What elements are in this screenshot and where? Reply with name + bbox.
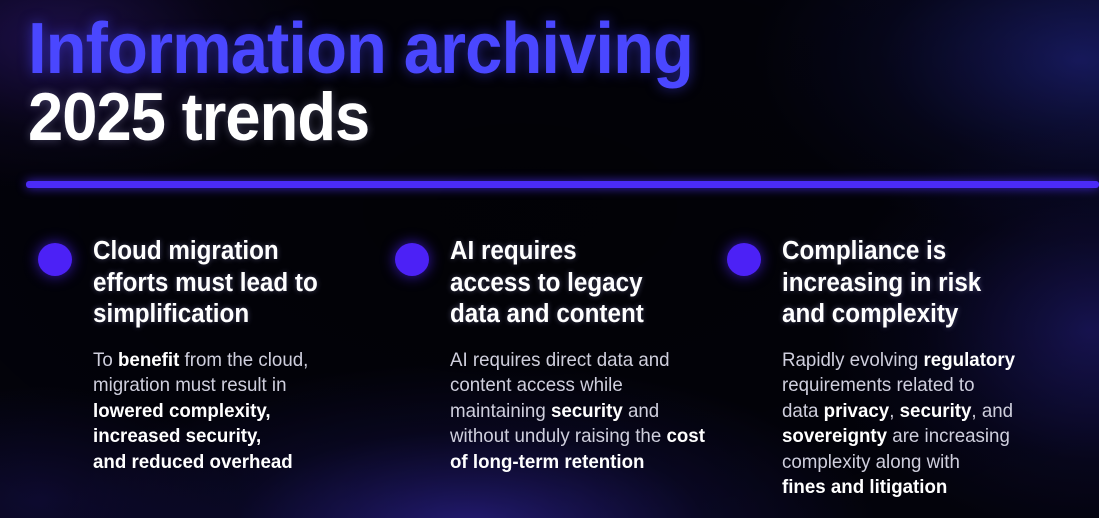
trend-column-body: Cloud migrationefforts must lead tosimpl… [72,236,355,475]
trend-heading-line: simplification [93,299,342,331]
emphasis-text: and reduced overhead [93,451,293,473]
trend-description-line: lowered complexity, [93,399,345,425]
trend-columns: Cloud migrationefforts must lead tosimpl… [0,236,1099,501]
trend-description-line: complexity along with [782,450,1070,476]
trend-heading: Cloud migrationefforts must lead tosimpl… [93,236,342,331]
trend-column: Compliance isincreasing in riskand compl… [714,236,1099,501]
plain-text: and [623,400,659,422]
trend-description: To benefit from the cloud,migration must… [93,348,345,476]
slide-header: Information archiving 2025 trends [28,12,1078,152]
plain-text: are increasing [887,425,1010,447]
plain-text: Rapidly evolving [782,349,924,371]
trend-description-line: requirements related to [782,373,1070,399]
emphasis-text: benefit [118,349,179,371]
plain-text: migration must result in [93,374,287,396]
trend-description-line: data privacy, security, and [782,399,1070,425]
trend-heading-line: Compliance is [782,236,1067,268]
plain-text: content access while [450,374,623,396]
trend-heading-line: efforts must lead to [93,268,342,300]
trend-column: Cloud migrationefforts must lead tosimpl… [0,236,358,501]
trend-description-line: and reduced overhead [93,450,345,476]
emphasis-text: sovereignty [782,425,887,447]
trend-description-line: increased security, [93,424,345,450]
emphasis-text: of long-term retention [450,451,644,473]
trend-heading: Compliance isincreasing in riskand compl… [782,236,1067,331]
trend-description-line: maintaining security and [450,399,705,425]
plain-text: without unduly raising the [450,425,666,447]
plain-text: requirements related to [782,374,975,396]
trend-heading-line: AI requires [450,236,702,268]
slide-canvas: Information archiving 2025 trends Cloud … [0,0,1099,518]
trend-description: Rapidly evolving regulatoryrequirements … [782,348,1070,501]
emphasis-text: cost [666,425,705,447]
plain-text: , and [971,400,1013,422]
plain-text: , [889,400,899,422]
trend-column-body: Compliance isincreasing in riskand compl… [761,236,1082,501]
emphasis-text: privacy [824,400,890,422]
trend-description-line: To benefit from the cloud, [93,348,345,374]
bullet-dot-icon [727,243,761,276]
trend-column-body: AI requiresaccess to legacydata and cont… [429,236,716,475]
bullet-dot-icon [38,243,72,276]
emphasis-text: security [551,400,623,422]
page-title-primary: Information archiving [28,12,1005,86]
trend-description-line: sovereignty are increasing [782,424,1070,450]
plain-text: To [93,349,118,371]
page-title-secondary: 2025 trends [28,82,1005,152]
trend-description-line: without unduly raising the cost [450,424,705,450]
plain-text: from the cloud, [179,349,308,371]
trend-column: AI requiresaccess to legacydata and cont… [358,236,714,501]
plain-text: data [782,400,824,422]
title-underline-rule [26,181,1099,188]
trend-description-line: migration must result in [93,373,345,399]
emphasis-text: lowered complexity, [93,400,271,422]
plain-text: maintaining [450,400,551,422]
emphasis-text: fines and litigation [782,476,947,498]
trend-heading-line: Cloud migration [93,236,342,268]
trend-description-line: AI requires direct data and [450,348,705,374]
emphasis-text: increased security, [93,425,261,447]
trend-heading-line: data and content [450,299,702,331]
trend-heading-line: access to legacy [450,268,702,300]
trend-description-line: of long-term retention [450,450,705,476]
trend-description-line: Rapidly evolving regulatory [782,348,1070,374]
bullet-dot-icon [395,243,429,276]
plain-text: complexity along with [782,451,960,473]
trend-heading-line: and complexity [782,299,1067,331]
emphasis-text: regulatory [924,349,1016,371]
trend-heading: AI requiresaccess to legacydata and cont… [450,236,702,331]
trend-description: AI requires direct data andcontent acces… [450,348,705,476]
emphasis-text: security [900,400,972,422]
plain-text: AI requires direct data and [450,349,670,371]
trend-description-line: fines and litigation [782,475,1070,501]
trend-description-line: content access while [450,373,705,399]
trend-heading-line: increasing in risk [782,268,1067,300]
